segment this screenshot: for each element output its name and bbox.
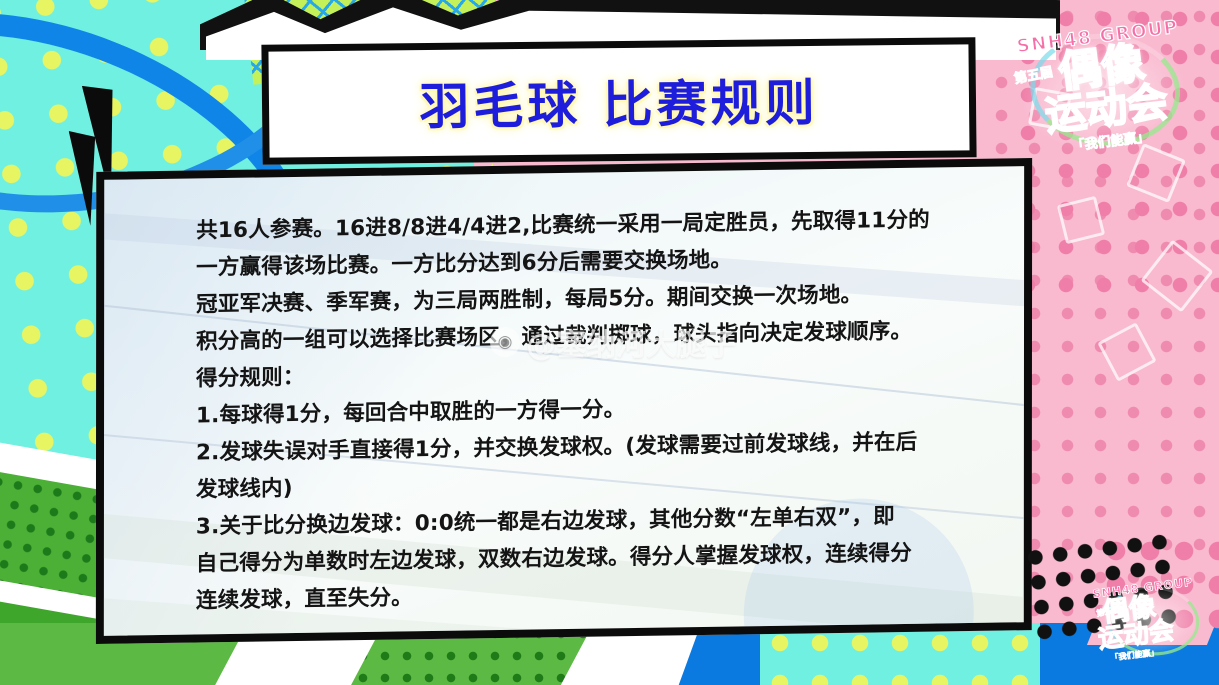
event-logo-bottom: SNH48 GROUP 第五届 偶像 运动会 「我们能赢」 [1092, 580, 1169, 665]
rules-panel: 共16人参赛。16进8/8进4/4进2,比赛统一采用一局定胜员，先取得11分的 … [96, 158, 1032, 644]
event-logo-top: SNH48 GROUP 第五届 偶像 运动会 「我们能赢」 [1007, 15, 1201, 160]
page-title: 羽毛球 比赛规则 [419, 63, 819, 139]
title-banner: 羽毛球 比赛规则 [261, 37, 976, 164]
rules-text-block: 共16人参赛。16进8/8进4/4进2,比赛统一采用一局定胜员，先取得11分的 … [104, 166, 1024, 621]
slide-root: WIN ➤ 羽毛球 比赛规则 [0, 0, 1219, 685]
